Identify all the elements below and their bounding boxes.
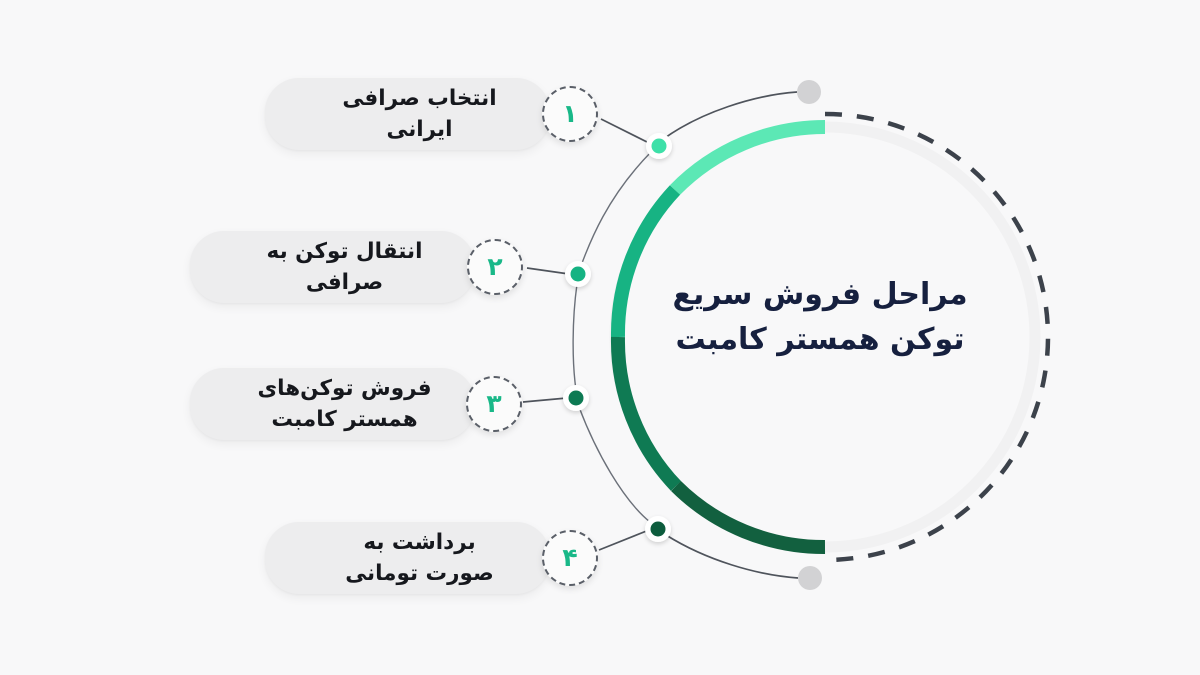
step-number-2: ۲ (487, 254, 502, 279)
step-pill-2[interactable]: انتقال توکن به صرافی (190, 231, 475, 303)
connector-arc-left-upper (578, 152, 651, 274)
node-dot-3[interactable] (563, 385, 589, 411)
step-number-4: ۴ (562, 545, 577, 570)
step-pill-3[interactable]: فروش توکن‌های همستر کامبت (190, 368, 475, 440)
step-badge-1[interactable]: ۱ (542, 86, 598, 142)
center-title: مراحل فروش سریع توکن همستر کامبت (640, 272, 1000, 362)
step-badge-3[interactable]: ۳ (466, 376, 522, 432)
connector-node4-graydot (666, 535, 798, 578)
step-label-4: برداشت به صورت تومانی (329, 527, 510, 589)
step-number-1: ۱ (562, 101, 577, 126)
connector-arc-left-mid (573, 284, 577, 390)
infographic-canvas: انتخاب صرافی ایرانی ۱ انتقال توکن به صرا… (0, 0, 1200, 675)
step-label-3: فروش توکن‌های همستر کامبت (257, 373, 431, 435)
connector-node2-badge2 (527, 268, 569, 274)
step-label-2: انتقال توکن به صرافی (254, 236, 435, 298)
connector-node3-badge3 (523, 398, 567, 402)
connector-node1-graydot (662, 92, 797, 140)
connector-node4-badge4 (599, 530, 649, 550)
arc-segment-1 (675, 127, 825, 190)
step-badge-2[interactable]: ۲ (467, 239, 523, 295)
gray-dot-top-icon (797, 80, 821, 104)
circular-diagram (0, 0, 1200, 675)
step-pill-4[interactable]: برداشت به صورت تومانی (265, 522, 550, 594)
step-badge-4[interactable]: ۴ (542, 530, 598, 586)
step-pill-1[interactable]: انتخاب صرافی ایرانی (265, 78, 550, 150)
arc-segment-4 (676, 486, 825, 547)
connector-node1-badge1 (601, 119, 655, 146)
step-number-3: ۳ (486, 391, 501, 416)
step-label-1: انتخاب صرافی ایرانی (329, 83, 510, 145)
connector-arc-left-lower (579, 407, 650, 522)
gray-dot-bottom-icon (798, 566, 822, 590)
node-dot-1[interactable] (646, 133, 672, 159)
node-dot-4[interactable] (645, 516, 671, 542)
node-dot-2[interactable] (565, 261, 591, 287)
